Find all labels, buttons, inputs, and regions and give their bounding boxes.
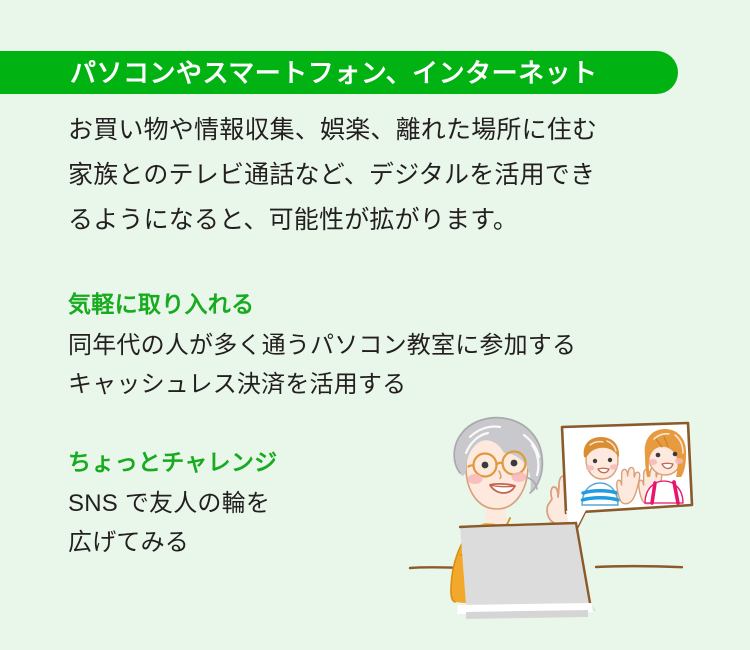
- list-item: SNS で友人の輪を: [68, 484, 708, 523]
- intro-paragraph: お買い物や情報収集、娯楽、離れた場所に住む 家族とのテレビ通話など、デジタルを活…: [68, 108, 708, 243]
- section-challenge: ちょっとチャレンジ SNS で友人の輪を 広げてみる: [68, 448, 708, 562]
- section-heading: ちょっとチャレンジ: [68, 448, 708, 477]
- section-item-list: 同年代の人が多く通うパソコン教室に参加する キャッシュレス決済を活用する: [68, 326, 708, 404]
- content-column: お買い物や情報収集、娯楽、離れた場所に住む 家族とのテレビ通話など、デジタルを活…: [68, 108, 708, 562]
- section-banner: パソコンやスマートフォン、インターネット: [0, 51, 678, 94]
- section-casual-adoption: 気軽に取り入れる 同年代の人が多く通うパソコン教室に参加する キャッシュレス決済…: [68, 290, 708, 404]
- table-line-icon: [410, 566, 682, 568]
- list-item: 同年代の人が多く通うパソコン教室に参加する: [68, 326, 708, 365]
- section-item-list: SNS で友人の輪を 広げてみる: [68, 484, 708, 562]
- intro-line: るようになると、可能性が拡がります。: [68, 198, 708, 243]
- laptop-base: [457, 603, 593, 614]
- banner-title: パソコンやスマートフォン、インターネット: [70, 60, 598, 86]
- laptop-shadow: [466, 601, 596, 611]
- intro-line: 家族とのテレビ通話など、デジタルを活用でき: [68, 153, 708, 198]
- laptop-base-shade: [466, 610, 588, 619]
- info-card: パソコンやスマートフォン、インターネット お買い物や情報収集、娯楽、離れた場所に…: [0, 0, 750, 650]
- list-item: キャッシュレス決済を活用する: [68, 365, 708, 404]
- section-heading: 気軽に取り入れる: [68, 290, 708, 319]
- list-item: 広げてみる: [68, 523, 708, 562]
- intro-line: お買い物や情報収集、娯楽、離れた場所に住む: [68, 108, 708, 153]
